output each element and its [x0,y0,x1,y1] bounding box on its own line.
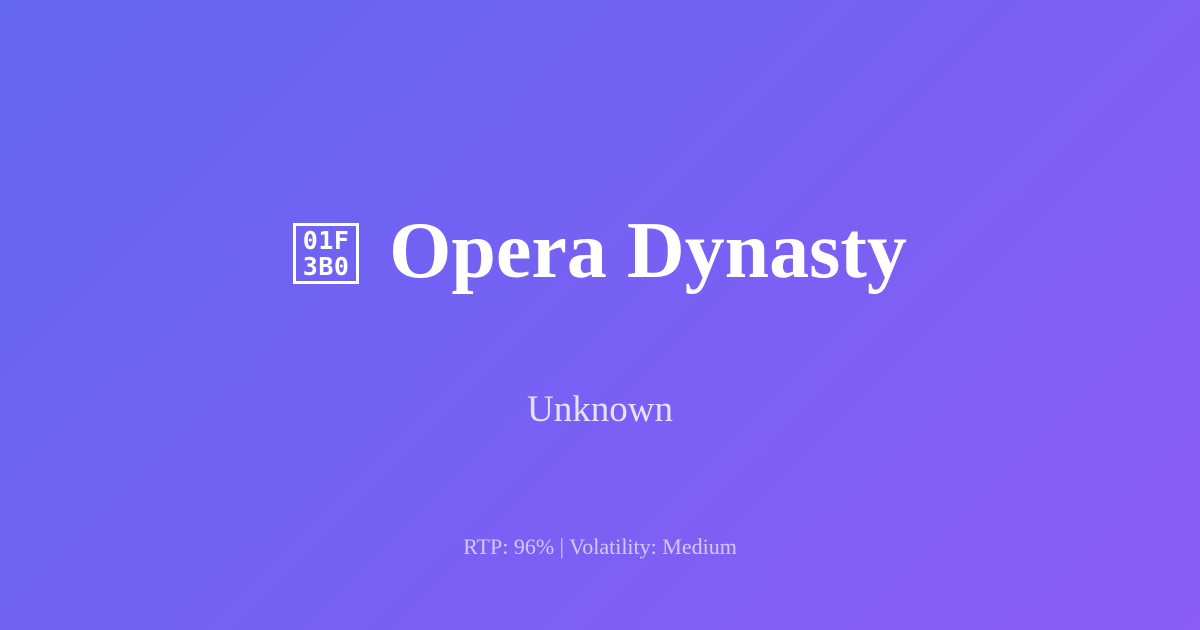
subtitle: Unknown [527,388,673,432]
emoji-fallback-codepoint-bottom: 3B0 [303,254,350,280]
page-title: Opera Dynasty [389,209,907,294]
og-share-card: 01F 3B0 Opera Dynasty Unknown RTP: 96% |… [0,0,1200,630]
game-stats-line: RTP: 96% | Volatility: Medium [0,534,1200,560]
title-row: 01F 3B0 Opera Dynasty [0,156,1200,348]
hero-block: 01F 3B0 Opera Dynasty Unknown [0,156,1200,432]
slot-machine-emoji: 01F 3B0 [293,223,359,284]
emoji-fallback-codepoint-top: 01F [303,228,350,254]
